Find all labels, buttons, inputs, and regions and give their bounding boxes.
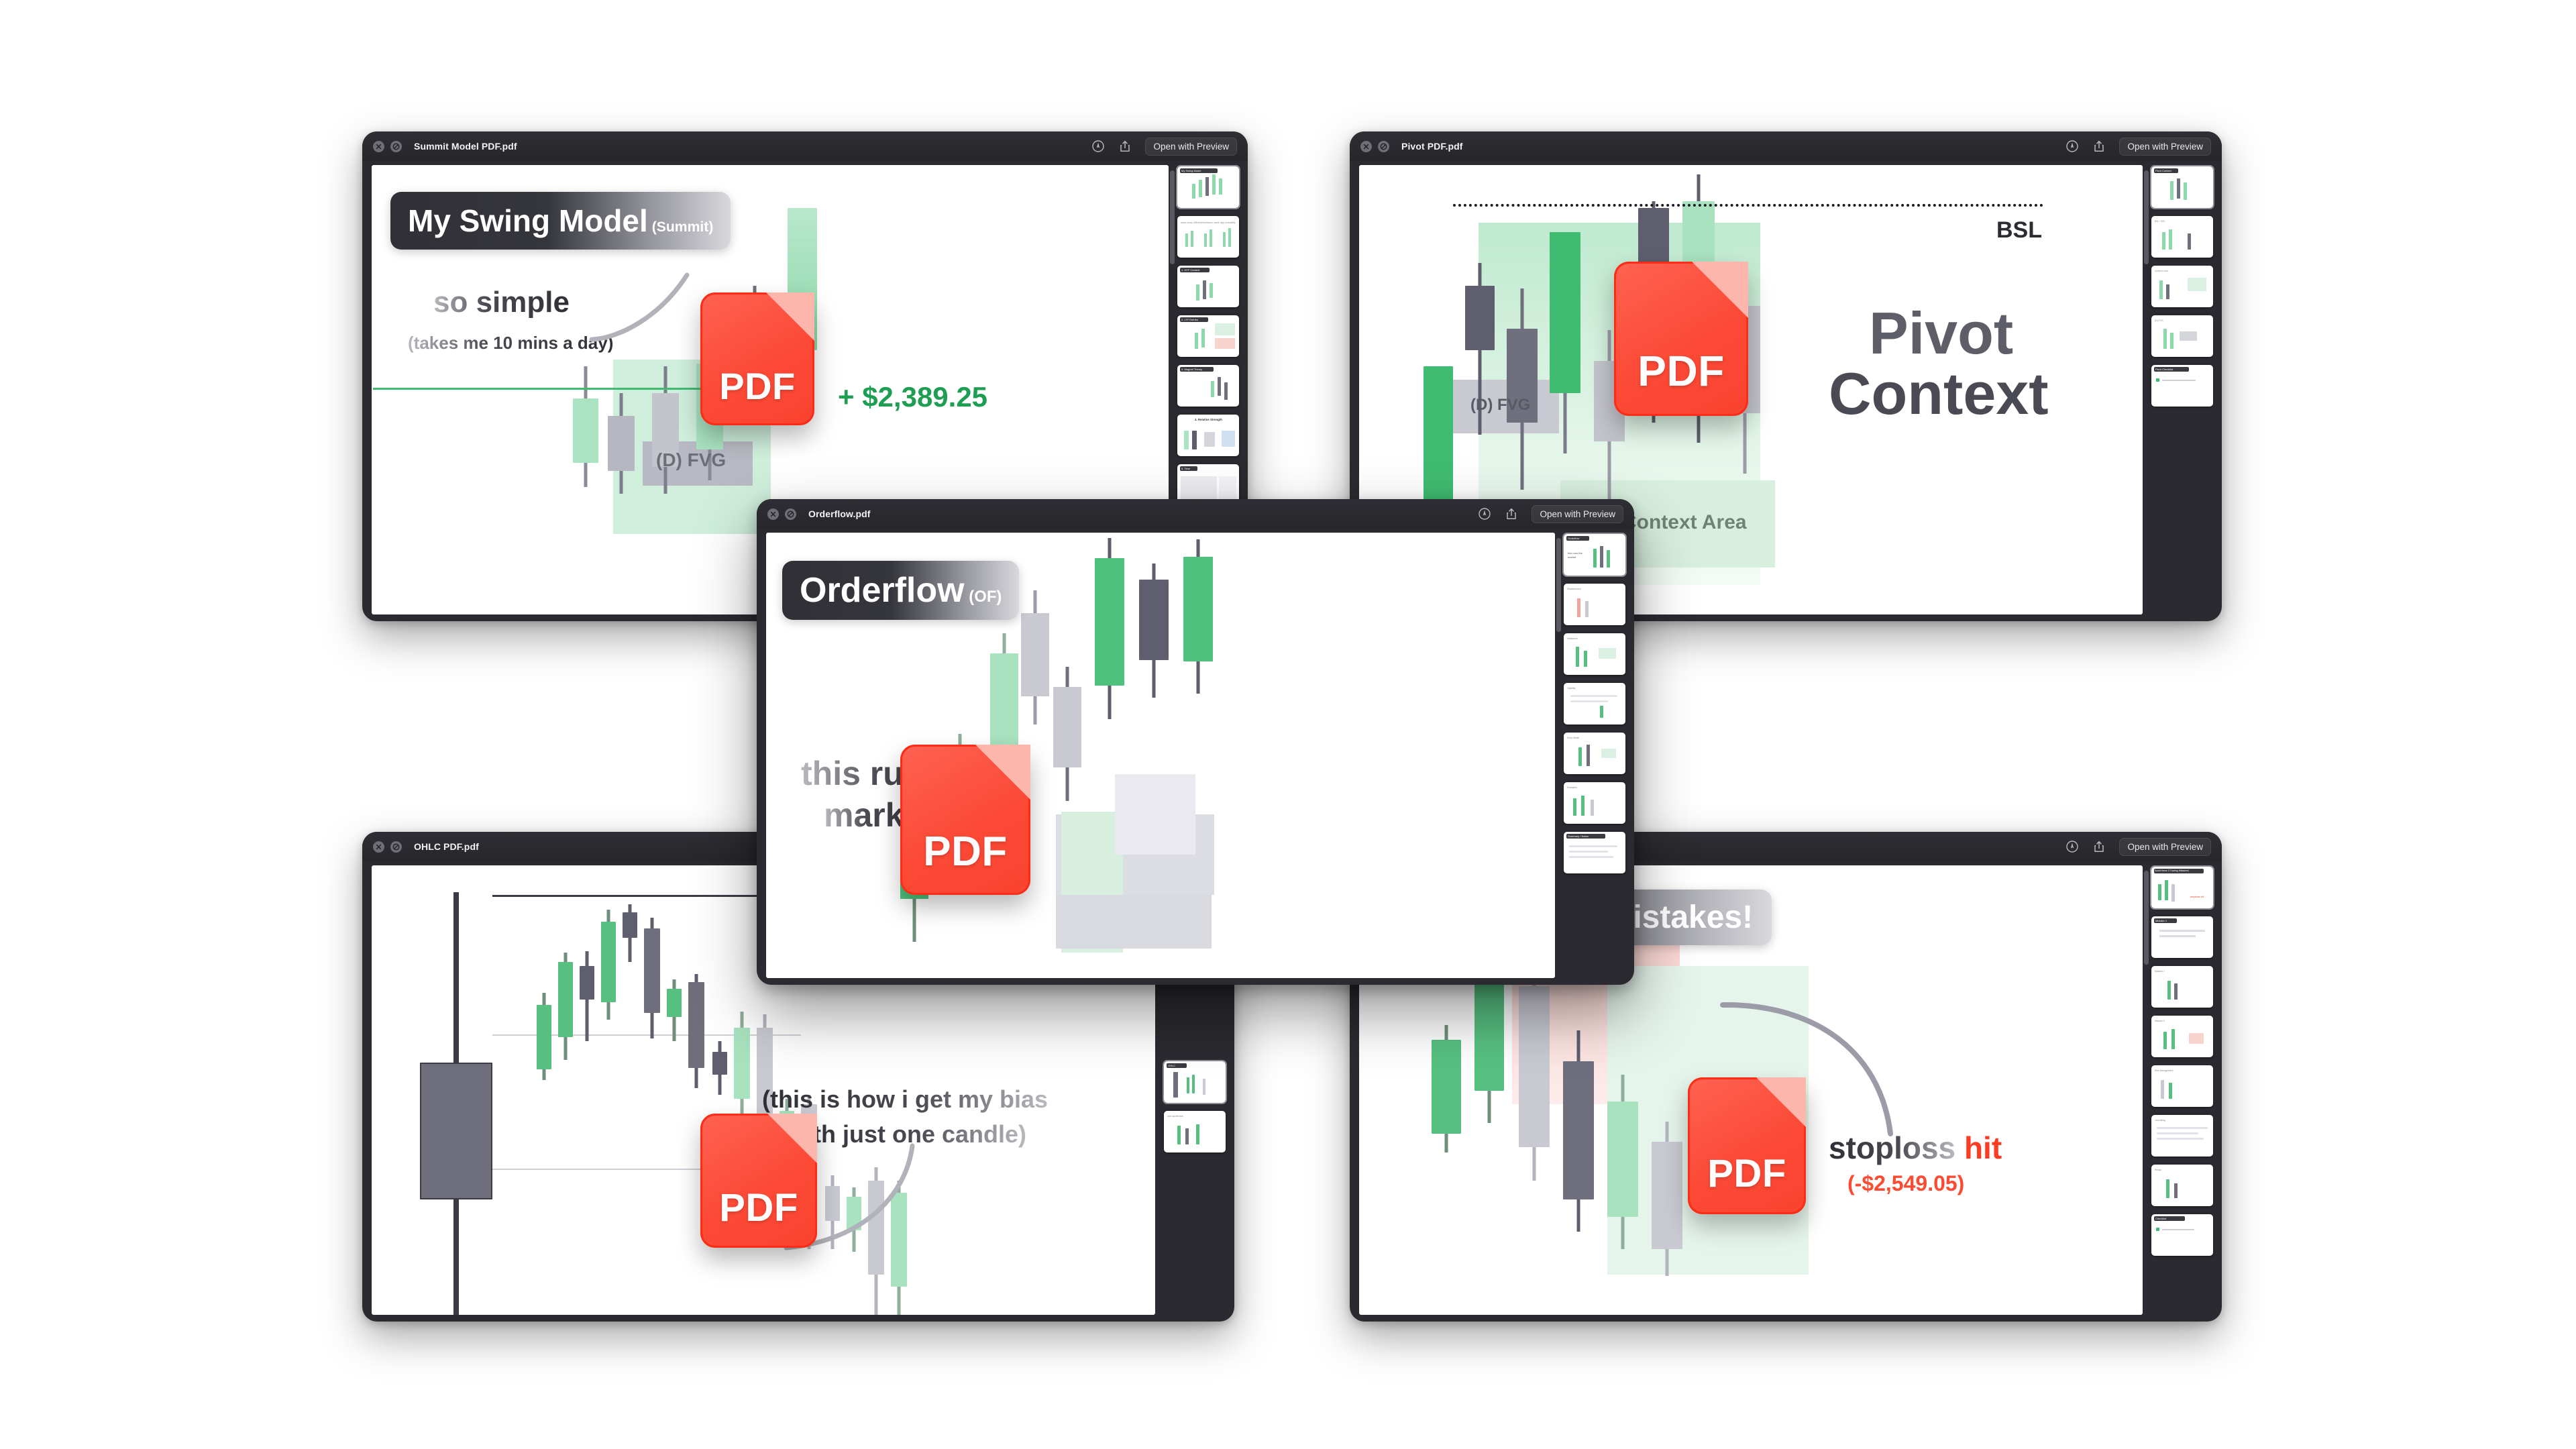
thumbnail-item[interactable]: My Swing Model — [1177, 166, 1239, 208]
thumbnail-caption: Examples — [1567, 786, 1577, 790]
quicklook-window-orderflow[interactable]: Orderflow.pdf Open with Preview — [757, 499, 1634, 985]
headline-pivot-line1: Pivot — [1869, 299, 2013, 368]
thumbnail-caption: BSL / SSL — [2155, 220, 2165, 223]
share-icon[interactable] — [1118, 140, 1132, 153]
headline-pivot-line2: Context — [1829, 360, 2049, 428]
thumbnail-caption: Imbalance — [1567, 637, 1578, 641]
thumbnail-item[interactable]: 4. Relative Strength — [1177, 415, 1239, 456]
thumbnail-caption: Entry Model — [1567, 737, 1579, 740]
titlebar-summit: Summit Model PDF.pdf Open with Preview — [362, 131, 1248, 161]
sidebar-scrollbar[interactable] — [1556, 538, 1561, 632]
thumbnail-item[interactable]: Journaling — [2151, 1115, 2213, 1157]
thumbnail-item[interactable]: Summary / Notes — [1564, 832, 1625, 873]
window-title: Pivot PDF.pdf — [1401, 141, 1463, 152]
thumbnail-item[interactable]: Examples — [1564, 782, 1625, 824]
close-icon[interactable] — [1360, 141, 1372, 152]
sidebar-scrollbar[interactable] — [2144, 170, 2149, 264]
thumbnail-item[interactable]: Liquidity — [1564, 683, 1625, 724]
thumbnail-annotation: stoploss hit — [2190, 895, 2204, 899]
no-entry-icon[interactable] — [1378, 141, 1389, 152]
thumbnail-item[interactable]: Context Area — [2151, 266, 2213, 307]
window-title: Summit Model PDF.pdf — [414, 141, 517, 152]
markup-icon[interactable] — [2065, 140, 2079, 153]
headline-sub: (Summit) — [652, 219, 714, 235]
note-loss-amount: (-$2,549.05) — [1847, 1171, 1964, 1196]
thumbnail-item[interactable]: Pivot Context — [2151, 166, 2213, 208]
thumbnail-caption: same setup, different timeframe, same hi… — [1181, 221, 1236, 225]
sidebar-scrollbar[interactable] — [2144, 871, 2149, 965]
pdf-file-icon[interactable]: PDF — [900, 745, 1030, 895]
thumbnail-caption: Risk Management — [2155, 1069, 2173, 1073]
note-stoploss-accent: hit — [1964, 1130, 2002, 1165]
pnl-summit: + $2,389.25 — [838, 381, 987, 413]
bsl-level-line — [1453, 204, 2043, 207]
thumbnail-caption: OHLC — [1168, 1064, 1175, 1068]
pdf-label: PDF — [700, 1185, 817, 1230]
close-icon[interactable] — [767, 508, 779, 520]
headline-orderflow: Orderflow (OF) — [782, 561, 1019, 620]
headline-sub: (OF) — [969, 588, 1002, 606]
thumbnail-caption: Context Area — [2155, 270, 2168, 273]
ohlc-reference-candle — [420, 892, 492, 1315]
thumbnail-caption: 1. HTF Context — [1181, 268, 1199, 272]
window-title: OHLC PDF.pdf — [414, 841, 479, 852]
thumbnail-item[interactable]: 1. HTF Context — [1177, 266, 1239, 307]
pdf-fold-corner — [975, 745, 1030, 800]
pdf-file-icon[interactable]: PDF — [700, 1114, 817, 1248]
thumbnail-sidebar-pivot[interactable]: Pivot Context BSL / SSL Context Area (D)… — [2143, 161, 2222, 621]
thumbnail-caption: Checklist — [2155, 1217, 2166, 1221]
thumbnail-item[interactable]: Avoid these 3 Trading Mistakes! stoploss… — [2151, 867, 2213, 908]
thumbnail-caption: Displacement — [1567, 588, 1581, 591]
thumbnail-item[interactable]: Entry Model — [1564, 733, 1625, 774]
headline-summit: My Swing Model (Summit) — [390, 192, 731, 250]
thumbnail-caption: Mistake 2 — [2155, 970, 2165, 973]
markup-icon[interactable] — [2065, 840, 2079, 853]
thumbnail-caption: 5. Time — [1181, 467, 1190, 471]
no-entry-icon[interactable] — [390, 841, 402, 853]
pdf-fold-corner — [1692, 262, 1748, 318]
level-label-bsl: BSL — [1996, 217, 2042, 244]
window-title: Orderflow.pdf — [808, 508, 871, 519]
share-icon[interactable] — [2092, 140, 2106, 153]
titlebar-pivot: Pivot PDF.pdf Open with Preview — [1350, 131, 2222, 161]
thumbnail-item[interactable]: Displacement — [1564, 584, 1625, 625]
thumbnail-item[interactable]: (D) FVG — [2151, 315, 2213, 357]
note-stoploss: stoploss hit — [1829, 1130, 2002, 1166]
zone-label-context-area: Context Area — [1622, 511, 1747, 534]
thumbnail-caption: Pivot Checklist — [2155, 368, 2173, 372]
pdf-label: PDF — [900, 828, 1030, 875]
thumbnail-item[interactable]: Recap — [2151, 1165, 2213, 1206]
pdf-fold-corner — [767, 1114, 817, 1163]
thumbnail-item[interactable]: one candle bias — [1164, 1111, 1226, 1152]
titlebar-orderflow: Orderflow.pdf Open with Preview — [757, 499, 1634, 529]
pdf-fold-corner — [1756, 1077, 1806, 1127]
thumbnail-item[interactable]: Imbalance — [1564, 633, 1625, 675]
thumbnail-caption: Recap — [2155, 1169, 2161, 1172]
headline-text: Orderflow — [800, 570, 965, 610]
thumbnail-sidebar-mistakes[interactable]: Avoid these 3 Trading Mistakes! stoploss… — [2143, 861, 2222, 1322]
thumbnail-caption: 2. LTF Entries — [1181, 318, 1198, 322]
thumbnail-caption: Journaling — [2155, 1119, 2165, 1122]
open-with-preview-button[interactable]: Open with Preview — [2119, 838, 2211, 856]
thumbnail-item[interactable]: BSL / SSL — [2151, 216, 2213, 258]
thumbnail-sidebar-orderflow[interactable]: Orderflow this runs themarket Displaceme… — [1555, 529, 1634, 985]
markup-icon[interactable] — [1478, 507, 1491, 521]
open-with-preview-button[interactable]: Open with Preview — [2119, 138, 2211, 156]
thumbnail-item[interactable]: Mistake 2 — [2151, 966, 2213, 1008]
close-icon[interactable] — [373, 841, 384, 853]
sidebar-scrollbar[interactable] — [1170, 170, 1175, 264]
thumbnail-caption: My Swing Model — [1181, 169, 1201, 173]
thumbnail-caption: Avoid these 3 Trading Mistakes! — [2155, 869, 2189, 873]
pdf-fold-corner — [766, 292, 814, 341]
thumbnail-item[interactable]: Mistake 3 — [2151, 1016, 2213, 1057]
thumbnail-item[interactable]: same setup, different timeframe, same hi… — [1177, 216, 1239, 258]
open-with-preview-button[interactable]: Open with Preview — [1532, 505, 1623, 523]
thumbnail-caption: Pivot Context — [2155, 169, 2171, 173]
note-bias-line1: (this is how i get my bias — [762, 1085, 1048, 1114]
pdf-file-icon[interactable]: PDF — [1688, 1077, 1806, 1214]
share-icon[interactable] — [1505, 507, 1518, 521]
zone-label-fvg-pivot: (D) FVG — [1470, 396, 1530, 415]
thumbnail-item[interactable]: 3. Magnet Theory — [1177, 365, 1239, 407]
thumbnail-item[interactable]: Checklist — [2151, 1214, 2213, 1256]
pdf-file-icon[interactable]: PDF — [700, 292, 814, 425]
no-entry-icon[interactable] — [785, 508, 796, 520]
thumbnail-caption: Summary / Notes — [1568, 835, 1589, 839]
note-bias-line2: with just one candle) — [788, 1120, 1026, 1148]
no-entry-icon[interactable] — [390, 141, 402, 152]
pdf-page-orderflow: Orderflow (OF) this runs the market PDF — [766, 533, 1555, 978]
pdf-file-icon[interactable]: PDF — [1614, 262, 1748, 416]
zone-label-fvg-summit: (D) FVG — [656, 449, 726, 471]
thumbnail-caption: one candle bias — [1167, 1115, 1183, 1118]
thumbnail-caption: 4. Relative Strength — [1195, 418, 1222, 423]
thumbnail-item[interactable]: OHLC — [1164, 1061, 1226, 1103]
thumbnail-item[interactable]: Orderflow this runs themarket — [1564, 534, 1625, 576]
thumbnail-caption: Orderflow — [1568, 537, 1579, 541]
thumbnail-caption: Mistake 3 — [2155, 1020, 2165, 1023]
thumbnail-item[interactable]: 2. LTF Entries — [1177, 315, 1239, 357]
thumbnail-caption: 3. Magnet Theory — [1181, 368, 1202, 372]
thumbnail-item[interactable]: Mistake 1 — [2151, 916, 2213, 958]
thumbnail-caption: (D) FVG — [2155, 319, 2163, 323]
note-so-simple: so simple — [433, 286, 570, 319]
pdf-label: PDF — [1614, 346, 1748, 396]
thumbnail-item[interactable]: Risk Management — [2151, 1065, 2213, 1107]
thumbnail-item[interactable]: Pivot Checklist — [2151, 365, 2213, 407]
thumbnail-caption: Mistake 1 — [2155, 919, 2167, 923]
thumbnail-caption: Liquidity — [1567, 687, 1575, 690]
markup-icon[interactable] — [1091, 140, 1105, 153]
close-icon[interactable] — [373, 141, 384, 152]
note-stoploss-text: stoploss — [1829, 1130, 1955, 1165]
pdf-label: PDF — [1688, 1151, 1806, 1196]
pdf-label: PDF — [700, 364, 814, 408]
thumbnail-subcaption: this runs themarket — [1568, 551, 1582, 559]
headline-text: My Swing Model — [408, 203, 648, 239]
note-takes-10-mins: (takes me 10 mins a day) — [408, 333, 613, 354]
share-icon[interactable] — [2092, 840, 2106, 853]
open-with-preview-button[interactable]: Open with Preview — [1145, 138, 1237, 156]
